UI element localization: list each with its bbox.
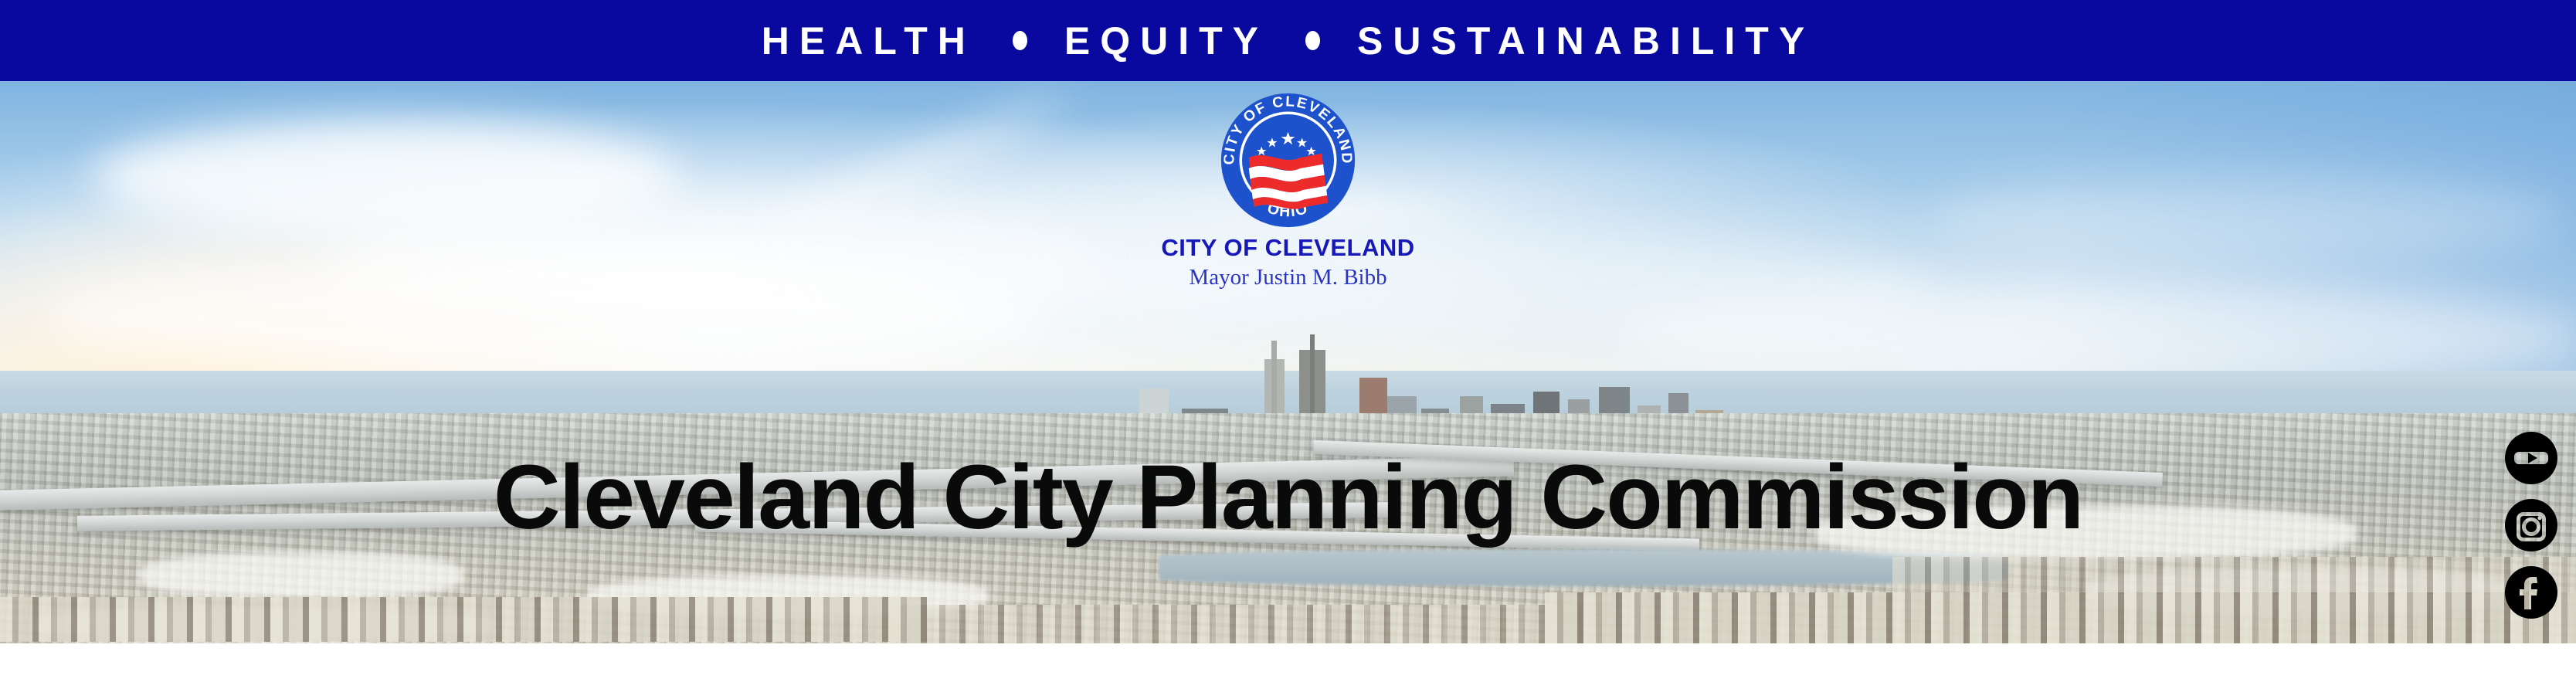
- city-logo-block: CITY OF CLEVELAND OHIO CITY OF CLEVEL: [0, 85, 2576, 289]
- rooftops-row: [1892, 557, 2576, 594]
- page-title: Cleveland City Planning Commission: [0, 452, 2576, 543]
- tagline-word-equity: EQUITY: [1064, 22, 1268, 60]
- facebook-icon[interactable]: [2505, 566, 2557, 619]
- mayor-name: Mayor Justin M. Bibb: [0, 266, 2576, 289]
- organization-name: CITY OF CLEVELAND: [0, 236, 2576, 261]
- cuyahoga-river: [1159, 549, 2008, 586]
- rooftops-row: [888, 605, 1583, 643]
- bullet-dot-icon: [1013, 31, 1027, 50]
- youtube-icon[interactable]: [2505, 432, 2557, 484]
- cleveland-planning-commission-header: HEALTH EQUITY SUSTAINABILITY: [0, 0, 2576, 682]
- snow-patch: [139, 552, 463, 599]
- bullet-dot-icon: [1305, 31, 1320, 50]
- tagline-word-sustainability: SUSTAINABILITY: [1357, 22, 1814, 60]
- rooftops-row: [1545, 592, 2576, 643]
- social-links: [2505, 432, 2557, 619]
- instagram-icon[interactable]: [2505, 499, 2557, 551]
- tagline-text-group: HEALTH EQUITY SUSTAINABILITY: [762, 22, 1814, 60]
- tagline-word-health: HEALTH: [762, 22, 976, 60]
- rooftops-row: [0, 597, 927, 642]
- city-of-cleveland-seal-icon: CITY OF CLEVELAND OHIO: [1220, 93, 1356, 228]
- bottom-white-strip: [0, 643, 2576, 682]
- tagline-banner: HEALTH EQUITY SUSTAINABILITY: [0, 0, 2576, 81]
